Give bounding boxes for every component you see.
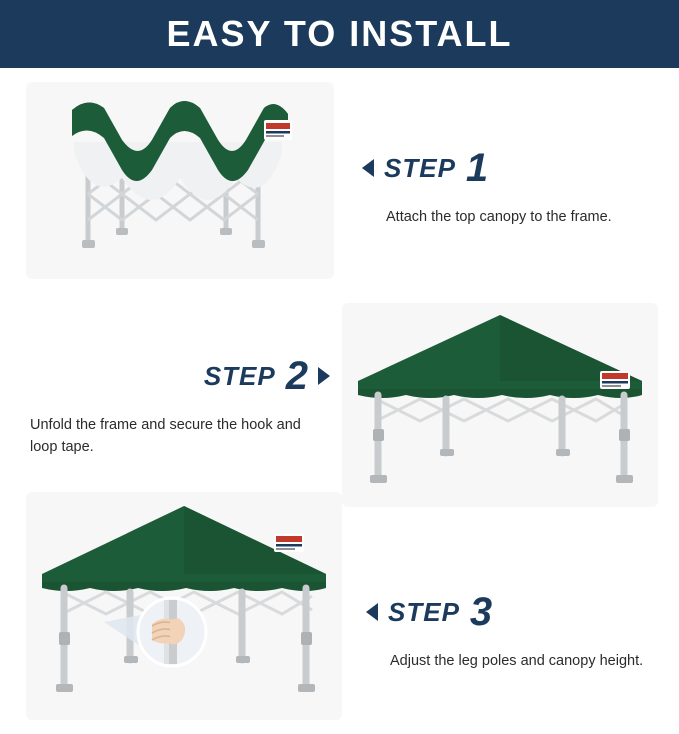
- assembled-canopy-illustration: [342, 303, 658, 507]
- step-3-heading: STEP 3: [366, 594, 666, 630]
- arrow-left-icon: [362, 159, 374, 177]
- step-3-description: Adjust the leg poles and canopy height.: [390, 650, 666, 672]
- step-2-block: STEP 2 Unfold the frame and secure the h…: [30, 358, 330, 458]
- step-2-word: STEP: [204, 361, 276, 392]
- page-title: EASY TO INSTALL: [166, 13, 512, 55]
- step-2-description: Unfold the frame and secure the hook and…: [30, 414, 320, 458]
- step-3-number: 3: [470, 594, 492, 630]
- canopy-top-fabric-illustration: [26, 82, 334, 279]
- page-header: EASY TO INSTALL: [0, 0, 679, 68]
- step-1-word: STEP: [384, 153, 456, 184]
- hand-adjusting-pole-detail: [138, 598, 206, 666]
- brand-tag-icon: [264, 120, 292, 140]
- canopy-height-adjust-illustration: [26, 492, 342, 720]
- brand-tag-icon: [274, 534, 304, 552]
- step-1-image-panel: [26, 82, 334, 279]
- step-1-number: 1: [466, 150, 488, 186]
- step-1-heading: STEP 1: [362, 150, 662, 186]
- step-1-block: STEP 1 Attach the top canopy to the fram…: [362, 150, 662, 228]
- step-2-heading: STEP 2: [30, 358, 330, 394]
- arrow-left-icon: [366, 603, 378, 621]
- step-3-image-panel: [26, 492, 342, 720]
- step-3-word: STEP: [388, 597, 460, 628]
- arrow-right-icon: [318, 367, 330, 385]
- step-2-number: 2: [286, 358, 308, 394]
- step-1-description: Attach the top canopy to the frame.: [386, 206, 662, 228]
- step-2-image-panel: [342, 303, 658, 507]
- step-3-block: STEP 3 Adjust the leg poles and canopy h…: [366, 594, 666, 672]
- brand-tag-icon: [600, 371, 630, 389]
